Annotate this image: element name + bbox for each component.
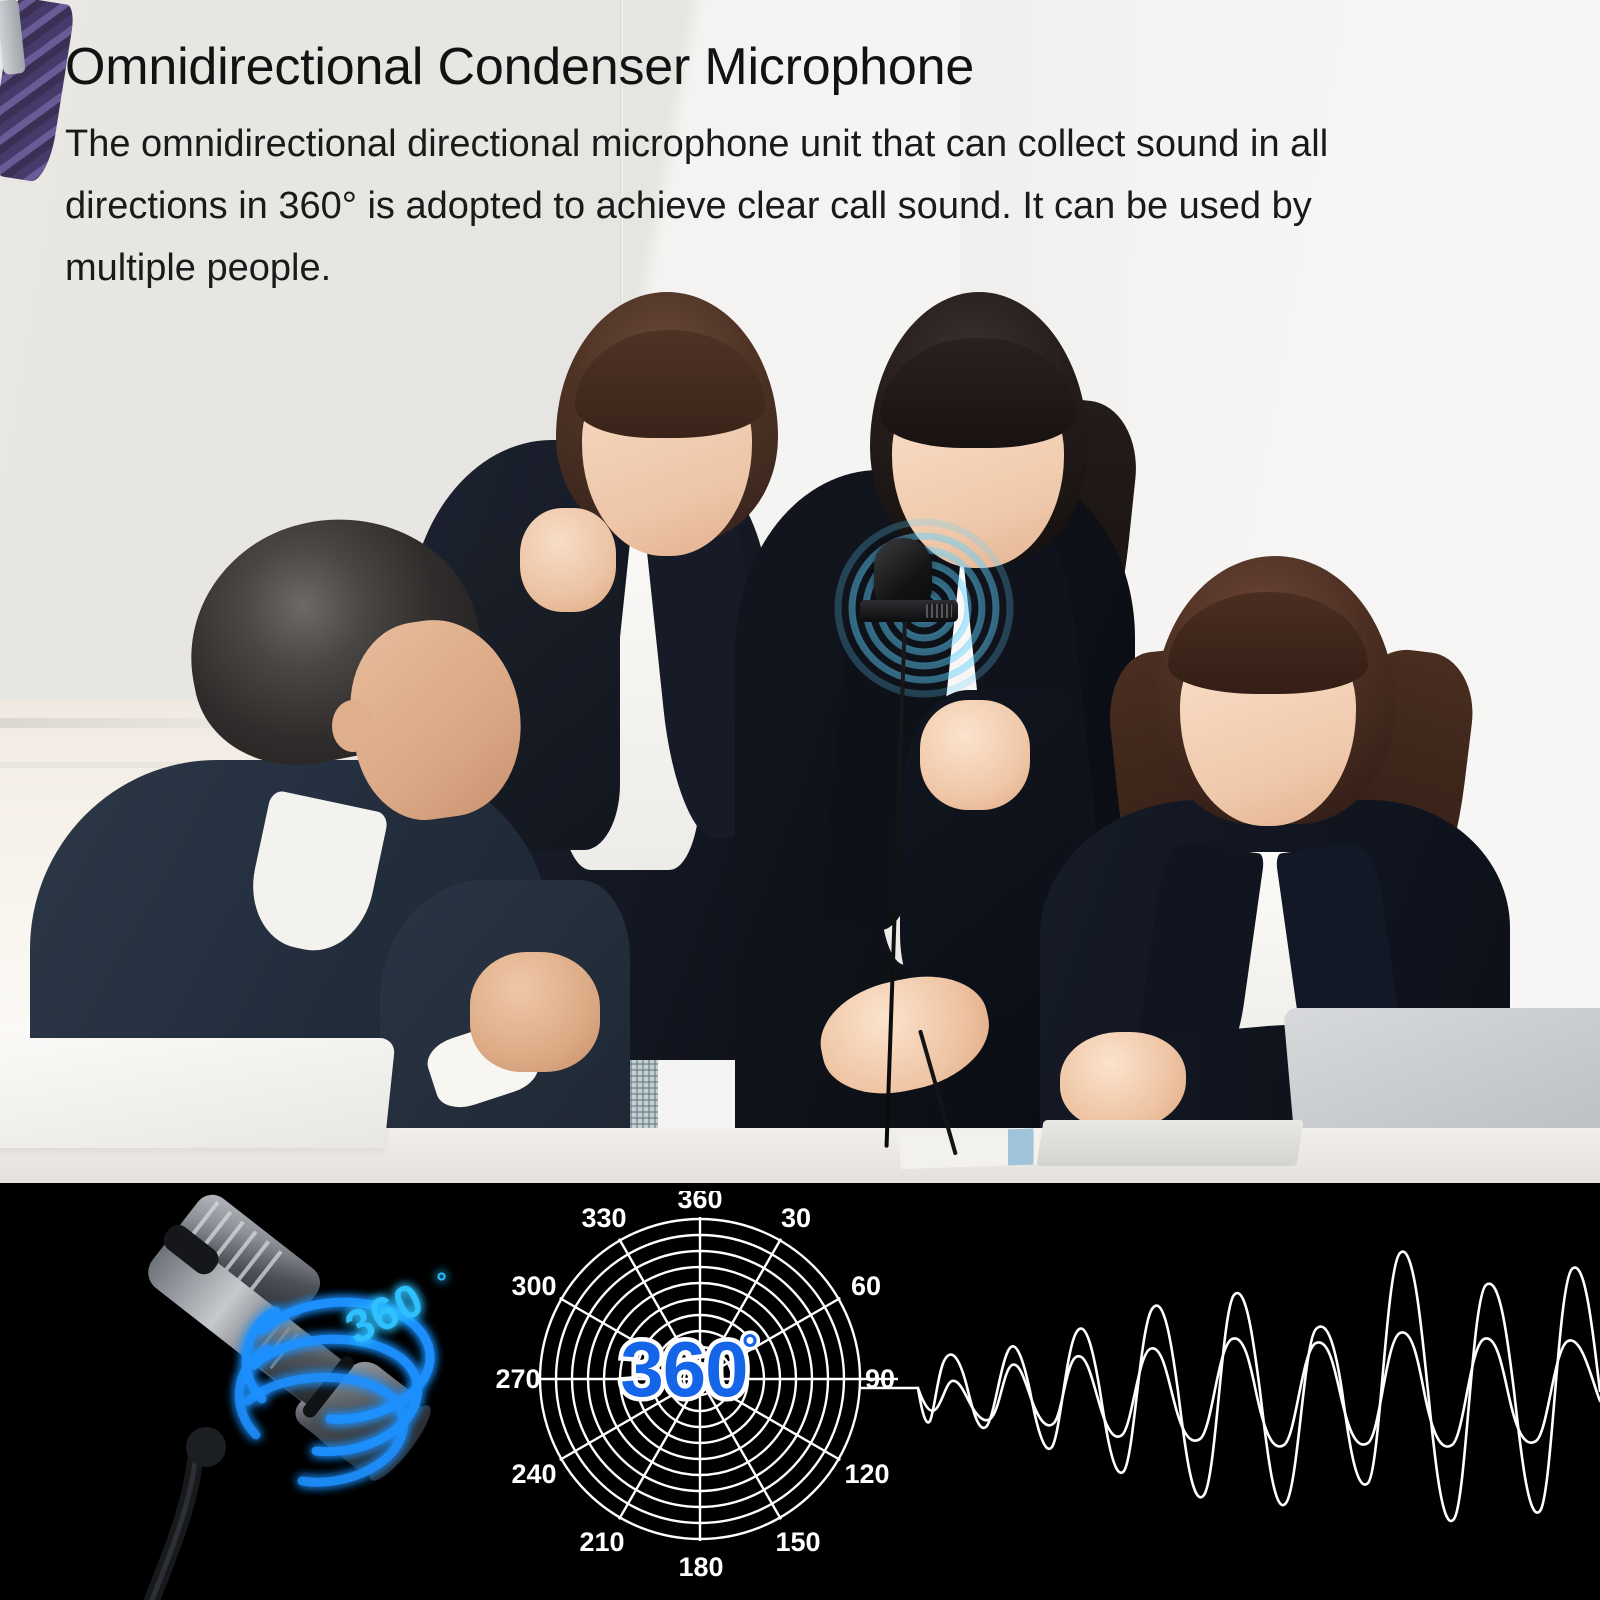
laptop-center [1036, 1120, 1303, 1166]
polar-label-210: 210 [579, 1527, 624, 1557]
polar-label-180: 180 [678, 1552, 723, 1582]
polar-label-30: 30 [781, 1203, 811, 1233]
product-feature-page: Omnidirectional Condenser Microphone The… [0, 0, 1600, 1600]
fist [470, 952, 600, 1072]
polar-label-360: 360 [677, 1191, 722, 1214]
hand-raised [920, 700, 1030, 810]
page-description: The omnidirectional directional micropho… [65, 114, 1435, 300]
laptop-left [0, 1038, 396, 1148]
polar-label-270: 270 [495, 1364, 540, 1394]
ear [332, 700, 374, 752]
polar-label-300: 300 [511, 1271, 556, 1301]
polar-center-label: 360 ° [620, 1325, 758, 1413]
product-microphone-illustration: 360 ° [10, 1183, 470, 1600]
product-degree-symbol: ° [432, 1265, 455, 1297]
waveform-series-primary [918, 1252, 1600, 1521]
page-title: Omnidirectional Condenser Microphone [65, 38, 1465, 96]
hand [520, 508, 616, 612]
person-woman-seated-right [0, 0, 22, 74]
polar-pattern-chart: 360 30 60 90 120 150 180 210 240 270 300… [478, 1191, 898, 1596]
hand [1060, 1032, 1186, 1130]
polar-label-330: 330 [581, 1203, 626, 1233]
polar-center-degree-symbol: ° [742, 1325, 759, 1372]
window-sill [0, 718, 230, 728]
lifestyle-photo-panel: Omnidirectional Condenser Microphone The… [0, 0, 1600, 1183]
microphone-clip [860, 600, 958, 622]
polar-center-360-text: 360 [620, 1325, 747, 1413]
window-sill-lower [0, 762, 180, 768]
headline-block: Omnidirectional Condenser Microphone The… [65, 38, 1465, 300]
wristwatch [0, 0, 26, 75]
audio-waveform-chart [860, 1195, 1600, 1590]
technical-illustration-panel: 360 ° [0, 1183, 1600, 1600]
polar-label-150: 150 [775, 1527, 820, 1557]
polar-label-240: 240 [511, 1459, 556, 1489]
